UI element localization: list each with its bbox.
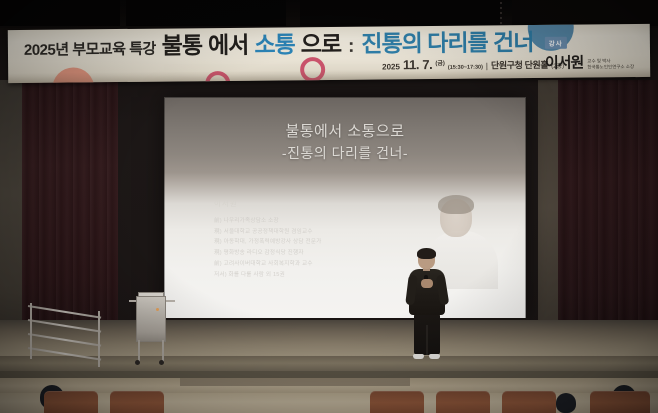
presenter-leg-gap <box>426 325 428 355</box>
presenter-shoe <box>413 354 424 359</box>
portrait-hair <box>438 195 474 214</box>
banner-inner: 2025년 부모교육 특강 불통 에서 소통 으로 : 진통의 다리를 건너 2… <box>8 24 650 83</box>
ceiling-panel <box>126 0 286 26</box>
banner-lead-text: 2025년 부모교육 특강 <box>24 38 156 60</box>
cart-wheel <box>159 360 164 365</box>
slide-bio-line: 現) 평화방송 라디오 감정식당 진행자 <box>214 248 382 259</box>
railing-bar <box>28 319 101 333</box>
presenter-hair <box>417 248 436 259</box>
slide-title-line1: 불통에서 소통으로 <box>164 120 526 143</box>
projection-screen: 불통에서 소통으로 -진통의 다리를 건너- 이서원 前) 나우리가족상담소 소… <box>164 97 526 319</box>
presenter-shoe <box>429 354 440 359</box>
slide-bio-line: 現) 서울대학교 공공정책대학원 겸임교수 <box>214 227 382 238</box>
slide-bio-heading: 이서원 <box>214 197 382 212</box>
slide-bio-line: 前) 나우리가족상담소 소장 <box>214 216 382 227</box>
audience-member-head <box>556 393 576 413</box>
stage-apron-shadow <box>180 378 410 386</box>
banner-title-part3: 소통 <box>254 33 295 56</box>
railing-post <box>30 303 32 359</box>
banner-title-colon: : <box>348 36 355 58</box>
slide-bio-line: 前) 고려사이버대학교 사회복지학과 교수 <box>214 259 382 270</box>
audience-seat <box>370 391 424 413</box>
speaker-badge: 강사 <box>545 37 567 49</box>
slide-bio-line: 現) 아동학대, 가정폭력예방강사 상담 전문가 <box>214 237 382 248</box>
slide-title-line2: -진통의 다리를 건너- <box>164 143 526 165</box>
ceiling-rail <box>500 2 502 26</box>
slide-title: 불통에서 소통으로 -진통의 다리를 건너- <box>164 120 526 165</box>
cart-leg <box>138 340 140 362</box>
stage-stair-railing <box>28 303 102 363</box>
av-equipment-cart <box>136 296 166 342</box>
banner-title-part4: 으로 <box>301 33 342 56</box>
audience-seat <box>502 391 556 413</box>
slide-bio-line: 저서) 화를 다룰 사람 외 15권 <box>214 270 382 281</box>
speaker-title-line1: 교수 및 박사 <box>587 58 610 63</box>
lecture-hall-photo: 2025년 부모교육 특강 불통 에서 소통 으로 : 진통의 다리를 건너 2… <box>0 0 658 413</box>
presenter-person <box>404 249 450 361</box>
ceiling-panel <box>300 0 500 26</box>
railing-bar <box>28 347 101 361</box>
event-banner: 2025년 부모교육 특강 불통 에서 소통 으로 : 진통의 다리를 건너 2… <box>8 24 650 83</box>
banner-title-part1: 불통 <box>162 34 203 57</box>
ceiling-panel <box>512 0 658 26</box>
railing-bar <box>28 333 101 347</box>
audience-seat <box>110 391 164 413</box>
railing-bar <box>28 305 101 319</box>
schedule-day: (금) <box>435 58 445 67</box>
railing-post <box>98 311 100 367</box>
audience-seat <box>436 391 490 413</box>
ceiling-panel <box>0 0 120 26</box>
cart-indicator-light <box>156 308 159 311</box>
banner-title-part5: 진통의 다리를 건너 <box>361 31 533 56</box>
audience-seat <box>590 391 650 413</box>
presenter-hands <box>421 279 433 288</box>
audience-seat <box>44 391 98 413</box>
cart-leg <box>162 340 164 362</box>
cart-wheel <box>135 360 140 365</box>
banner-title-part2: 에서 <box>208 34 249 57</box>
slide-bio-block: 이서원 前) 나우리가족상담소 소장 現) 서울대학교 공공정책대학원 겸임교수… <box>214 197 382 281</box>
